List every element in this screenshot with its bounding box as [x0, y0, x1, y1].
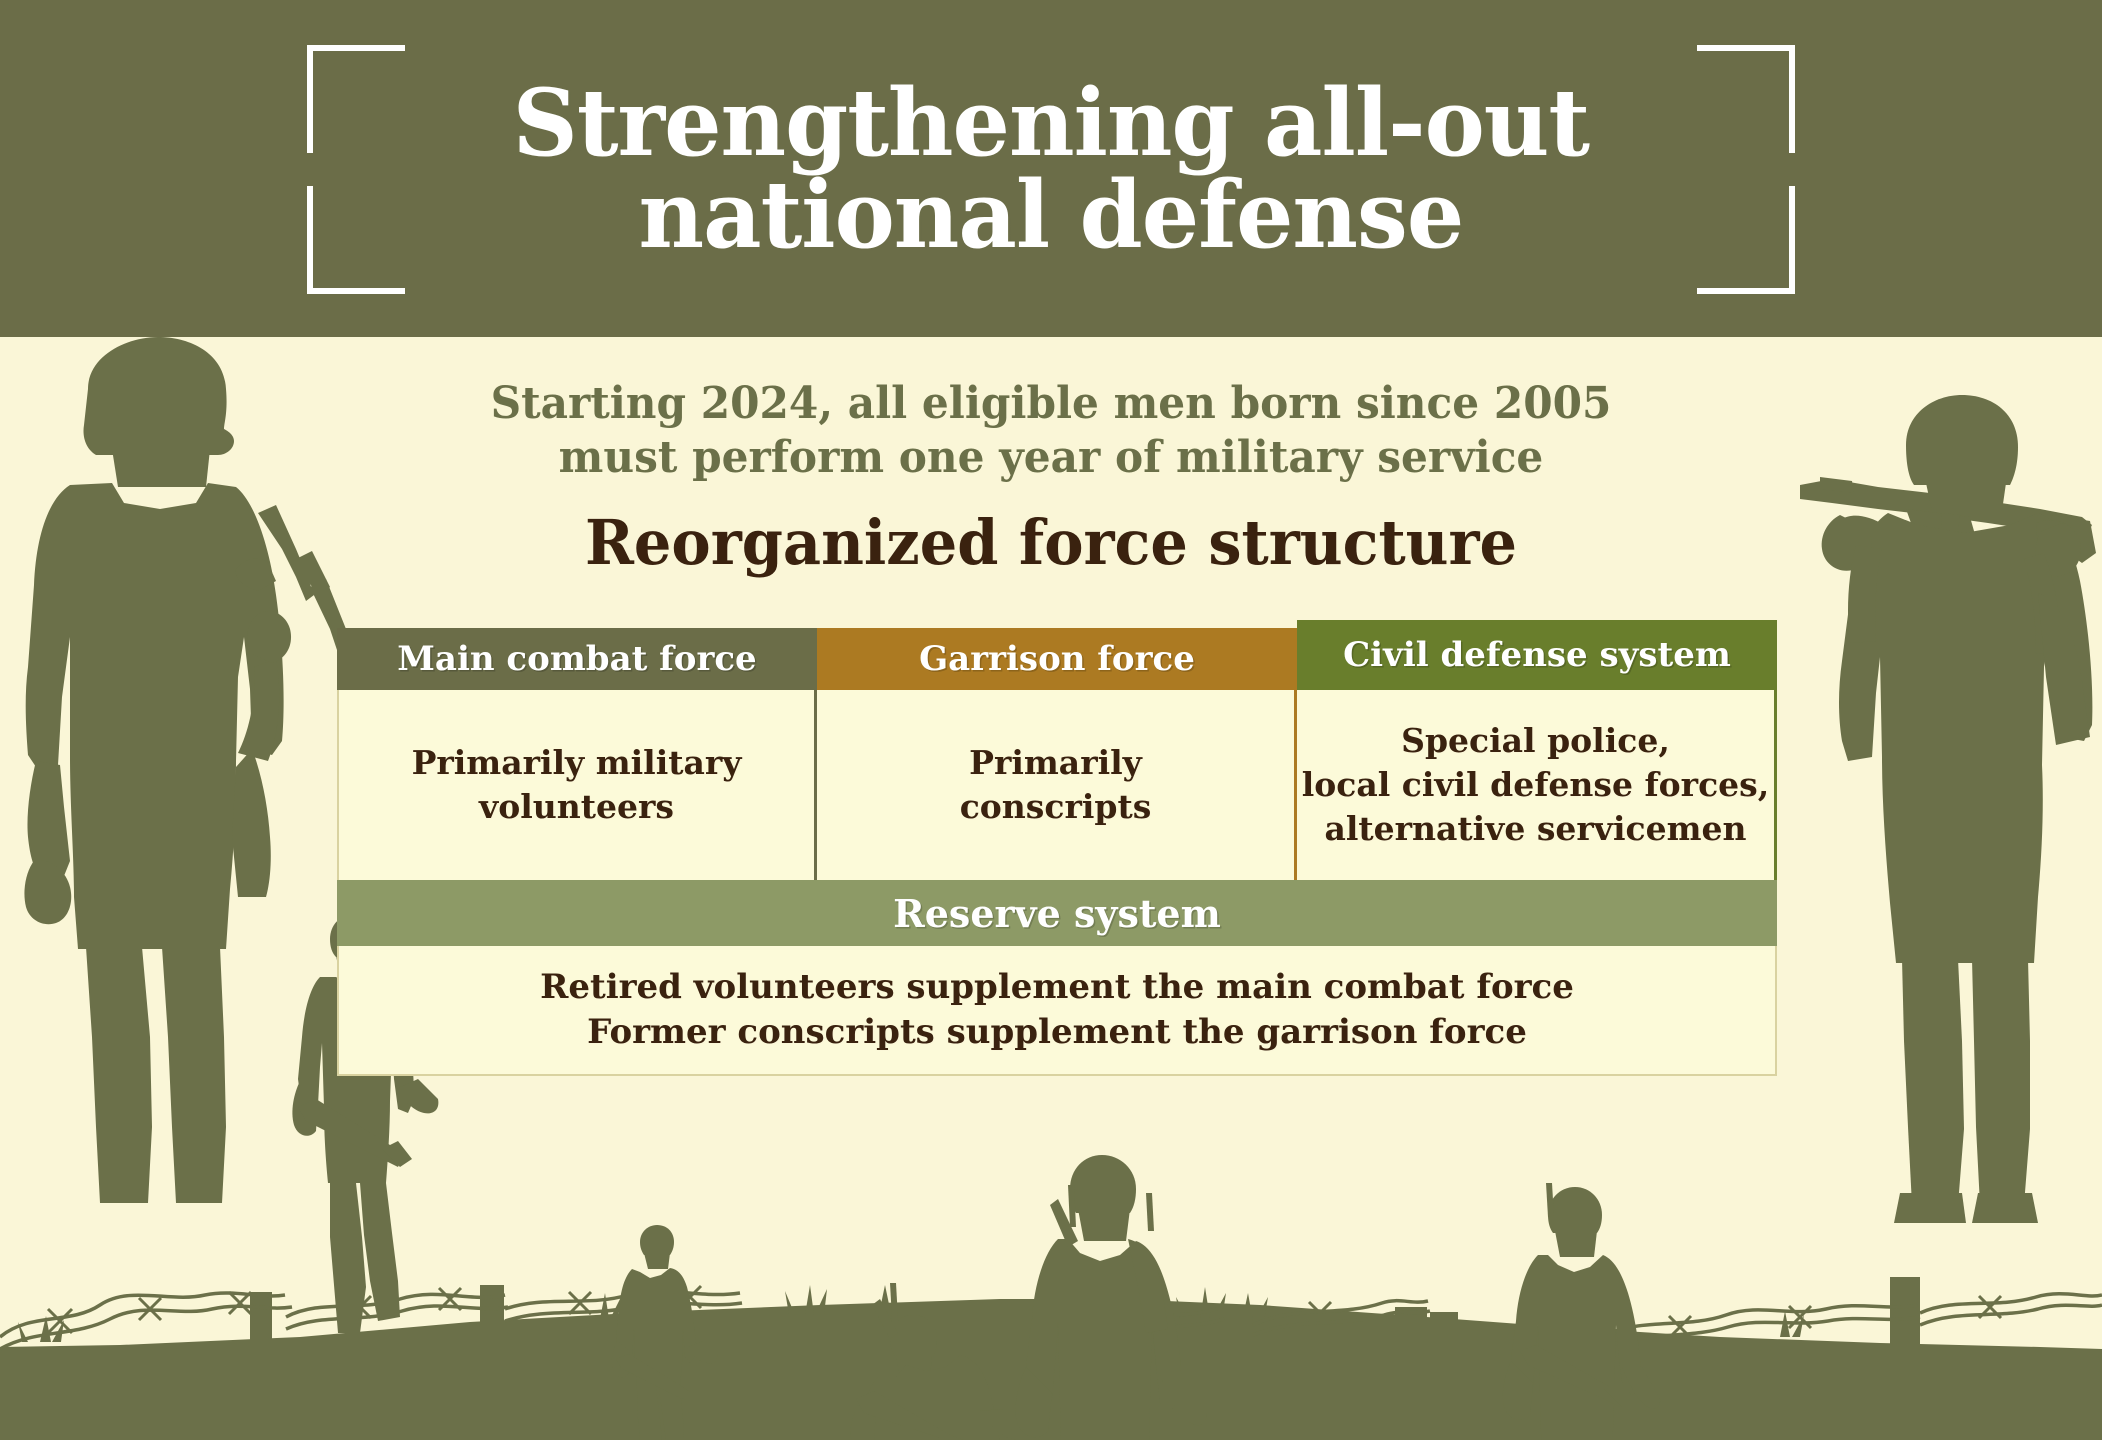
subtitle-text: Starting 2024, all eligible men born sin…: [42, 337, 2060, 484]
soldier-walking-center: [1016, 1155, 1207, 1440]
page-title: Strengthening all-out national defense: [513, 77, 1589, 259]
column-header-civil-defense-system: Civil defense system: [1297, 620, 1777, 690]
reserve-line-1: Retired volunteers supplement the main c…: [540, 965, 1574, 1010]
column-header-main-combat-force: Main combat force: [337, 628, 817, 690]
column-body-civil-defense-system: Special police, local civil defense forc…: [1297, 690, 1777, 880]
force-columns: Main combat force Primarily military vol…: [337, 620, 1777, 880]
title-wrapper: Strengthening all-out national defense: [0, 0, 2102, 337]
fence-post: [1890, 1277, 1920, 1345]
column-civil-defense-system: Civil defense system Special police, loc…: [1297, 620, 1777, 880]
title-band: Strengthening all-out national defense: [0, 0, 2102, 337]
column-body-garrison-force: Primarily conscripts: [817, 690, 1297, 880]
fence-post: [1430, 1312, 1458, 1350]
content-area: Starting 2024, all eligible men born sin…: [0, 337, 2102, 574]
column-main-combat-force: Main combat force Primarily military vol…: [337, 620, 817, 880]
reserve-system-body: Retired volunteers supplement the main c…: [337, 946, 1777, 1076]
section-title: Reorganized force structure: [53, 484, 2050, 574]
column-garrison-force: Garrison force Primarily conscripts: [817, 620, 1297, 880]
column-body-main-combat-force: Primarily military volunteers: [337, 690, 817, 880]
fence-post: [1222, 1307, 1252, 1357]
infographic-root: Strengthening all-out national defense S…: [0, 0, 2102, 1440]
force-structure-table: Main combat force Primarily military vol…: [337, 620, 1777, 1076]
reserve-system-header: Reserve system: [337, 880, 1777, 946]
fence-post: [250, 1292, 272, 1354]
fence-post: [480, 1285, 504, 1343]
column-header-garrison-force: Garrison force: [817, 628, 1297, 690]
reserve-line-2: Former conscripts supplement the garriso…: [587, 1010, 1527, 1055]
